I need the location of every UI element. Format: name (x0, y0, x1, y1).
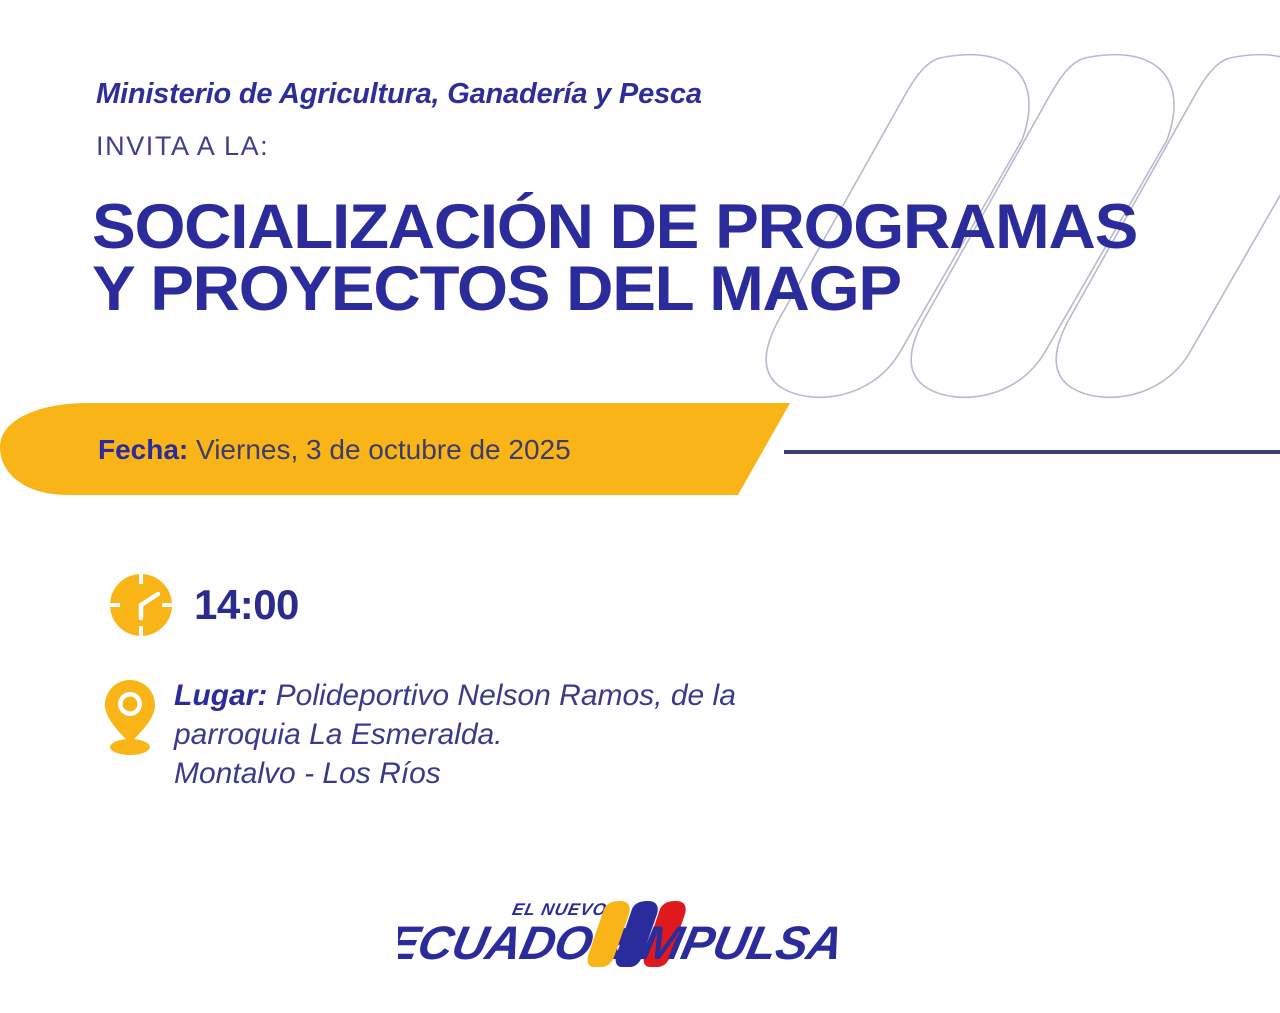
place-line-2: parroquia La Esmeralda. (174, 718, 503, 751)
page-title-line-2: Y PROYECTOS DEL MAGP (92, 258, 1137, 320)
invites-label: INVITA A LA: (96, 131, 269, 162)
page-title-line-1: SOCIALIZACIÓN DE PROGRAMAS (92, 196, 1137, 258)
date-value: Viernes, 3 de octubre de 2025 (188, 434, 570, 465)
page-title: SOCIALIZACIÓN DE PROGRAMAS Y PROYECTOS D… (92, 196, 1137, 320)
place-text: Lugar: Polideportivo Nelson Ramos, de la… (174, 676, 736, 793)
date-text: Fecha: Viernes, 3 de octubre de 2025 (98, 434, 571, 466)
map-pin-icon (102, 678, 158, 756)
time-value: 14:00 (194, 584, 299, 626)
place-line-3: Montalvo - Los Ríos (174, 757, 441, 790)
date-label: Fecha: (98, 434, 188, 465)
logo-word-impulsa: IMPULSA (624, 918, 847, 970)
banner-rule-line (784, 450, 1280, 454)
date-banner: Fecha: Viernes, 3 de octubre de 2025 (0, 403, 800, 495)
clock-icon (108, 572, 174, 638)
ecuador-impulsa-logo: EL NUEVO ECUADOR IMPULSA (398, 893, 882, 971)
time-row: 14:00 (108, 572, 299, 638)
place-row: Lugar: Polideportivo Nelson Ramos, de la… (102, 676, 962, 793)
ministry-name: Ministerio de Agricultura, Ganadería y P… (96, 78, 702, 111)
place-label: Lugar: (174, 679, 267, 712)
logo-tagline: EL NUEVO (510, 899, 609, 919)
place-line-1: Polideportivo Nelson Ramos, de la (267, 679, 736, 712)
invitation-poster: Ministerio de Agricultura, Ganadería y P… (0, 0, 1280, 1013)
